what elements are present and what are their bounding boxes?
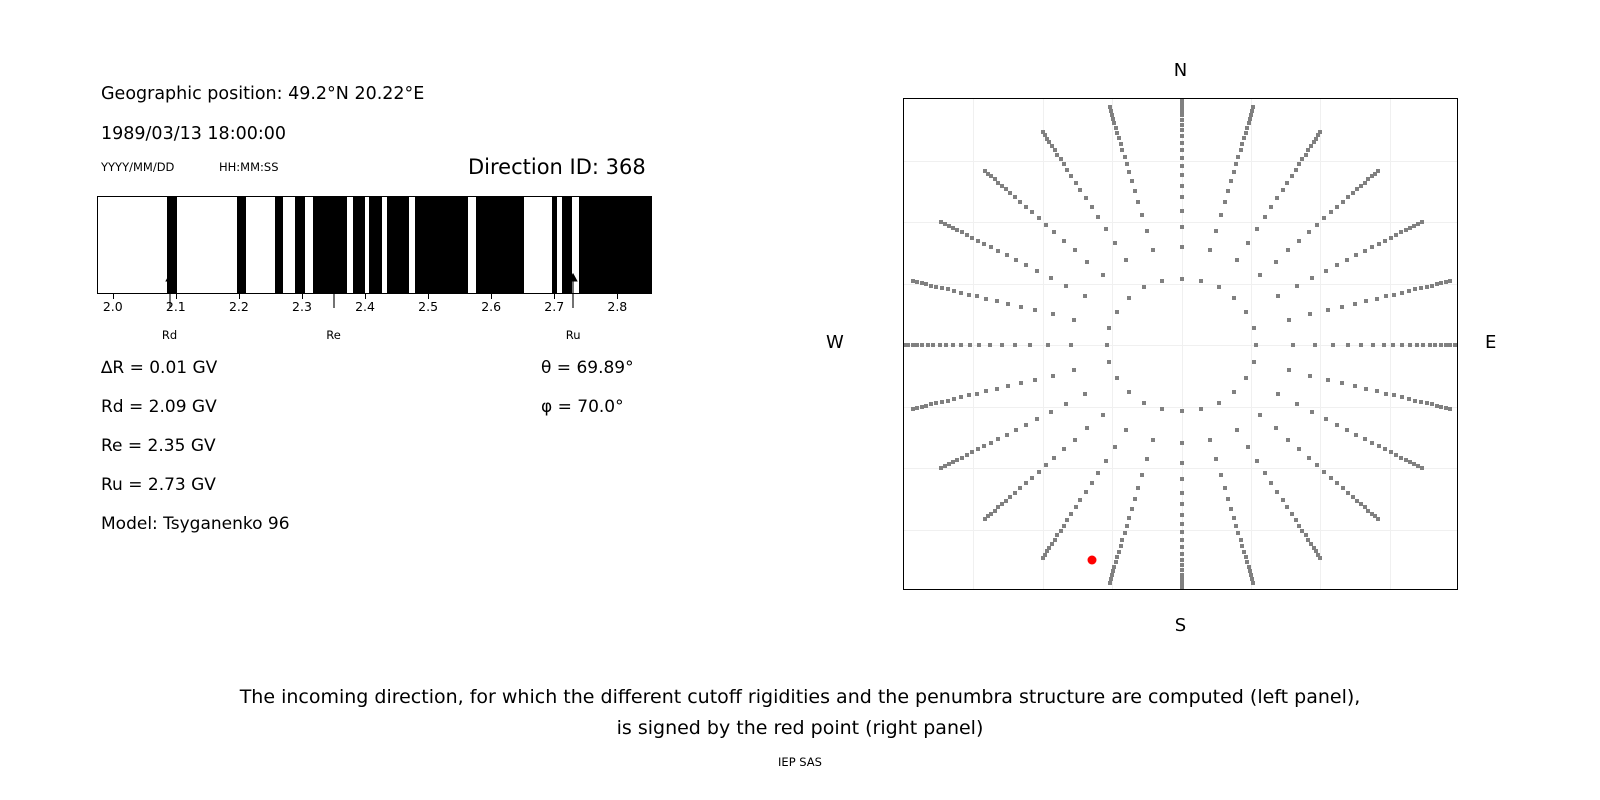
direction-dot: [1430, 284, 1434, 288]
penumbra-band: [552, 197, 557, 293]
direction-dot: [1062, 162, 1066, 166]
direction-dot: [1394, 233, 1398, 237]
direction-dot: [1119, 544, 1123, 548]
caption-line-1: The incoming direction, for which the di…: [0, 682, 1600, 713]
direction-dot: [1180, 277, 1184, 281]
direction-dot: [975, 392, 979, 396]
direction-dot: [1024, 205, 1028, 209]
penumbra-band: [237, 197, 246, 293]
direction-dot: [931, 343, 935, 347]
direction-dot: [1180, 461, 1184, 465]
gridline-horizontal: [904, 468, 1457, 469]
direction-dot: [1335, 263, 1339, 267]
direction-dot: [1059, 529, 1063, 533]
direction-dot: [1375, 297, 1379, 301]
direction-dot: [1370, 441, 1374, 445]
direction-dot: [920, 281, 924, 285]
direction-dot: [1315, 223, 1319, 227]
direction-dot: [1013, 195, 1017, 199]
compass-north-label: N: [903, 60, 1458, 81]
direction-dot: [1069, 343, 1073, 347]
gridline-horizontal: [904, 407, 1457, 408]
cutoff-marker-arrow-icon: [164, 272, 176, 308]
y-axis-tick-mark: [903, 468, 904, 469]
direction-dot: [1310, 276, 1314, 280]
direction-dot: [1382, 343, 1386, 347]
direction-dot: [1251, 105, 1255, 109]
direction-dot: [915, 343, 919, 347]
direction-dot: [1072, 318, 1076, 322]
direction-dot: [1363, 437, 1367, 441]
direction-dot: [1180, 589, 1184, 590]
direction-dot: [1223, 200, 1227, 204]
direction-dot: [1041, 130, 1045, 134]
direction-dot: [1389, 236, 1393, 240]
direction-dot: [1258, 413, 1262, 417]
direction-dot: [1180, 573, 1184, 577]
direction-dot: [1151, 248, 1155, 252]
direction-dot: [1180, 109, 1184, 113]
direction-dot: [1389, 450, 1393, 454]
direction-dot: [1180, 513, 1184, 517]
direction-dot: [1251, 581, 1255, 585]
direction-dot: [1115, 310, 1119, 314]
direction-dot: [1354, 433, 1358, 437]
direction-dot: [929, 402, 933, 406]
direction-dot: [1180, 225, 1184, 229]
direction-dot: [983, 169, 987, 173]
direction-dot: [1371, 343, 1375, 347]
direction-dot: [1217, 285, 1221, 289]
direction-dot: [1180, 184, 1184, 188]
direction-dot: [1006, 302, 1010, 306]
direction-dot: [1073, 438, 1077, 442]
direction-dot: [1322, 470, 1326, 474]
direction-dot: [1245, 560, 1249, 564]
gridline-vertical: [1043, 99, 1044, 589]
direction-dot: [1346, 491, 1350, 495]
direction-dot: [976, 447, 980, 451]
direction-dot: [1287, 368, 1291, 372]
direction-dot: [943, 464, 947, 468]
direction-dot: [1329, 210, 1333, 214]
direction-dot: [1115, 376, 1119, 380]
direction-dot: [1236, 155, 1240, 159]
parameter-line: Rd = 2.09 GV: [101, 397, 217, 417]
direction-dot: [1113, 445, 1117, 449]
direction-dot: [1117, 136, 1121, 140]
direction-dot: [929, 284, 933, 288]
direction-dot: [1160, 407, 1164, 411]
direction-dot: [1004, 187, 1008, 191]
direction-dot: [1180, 148, 1184, 152]
direction-dot: [943, 222, 947, 226]
direction-dot: [1050, 144, 1054, 148]
direction-dot: [1180, 98, 1184, 101]
direction-dot: [983, 517, 987, 521]
direction-dot: [1351, 191, 1355, 195]
direction-dot: [911, 279, 915, 283]
direction-dot: [1112, 121, 1116, 125]
direction-dot: [1113, 241, 1117, 245]
direction-dot: [960, 230, 964, 234]
direction-dot: [1457, 343, 1458, 347]
direction-dot: [1315, 463, 1319, 467]
direction-dot: [1307, 456, 1311, 460]
direction-dot: [1024, 263, 1028, 267]
direction-dot: [1180, 209, 1184, 213]
direction-dot: [924, 404, 928, 408]
direction-dot: [982, 242, 986, 246]
direction-dot: [1051, 374, 1055, 378]
direction-dot: [1033, 378, 1037, 382]
direction-dot: [1314, 137, 1318, 141]
direction-dot: [1239, 148, 1243, 152]
direction-dot: [1005, 253, 1009, 257]
direction-dot: [1297, 239, 1301, 243]
cutoff-marker-label: Re: [326, 328, 341, 342]
direction-dot: [1180, 409, 1184, 413]
direction-dot: [995, 387, 999, 391]
direction-dot: [1104, 227, 1108, 231]
x-axis-tick-mark: [1320, 589, 1321, 590]
direction-dot: [1308, 312, 1312, 316]
direction-dot: [1046, 343, 1050, 347]
direction-dot: [1180, 563, 1184, 567]
penumbra-band: [353, 197, 365, 293]
parameter-line: Re = 2.35 GV: [101, 436, 216, 456]
direction-dot: [1180, 128, 1184, 132]
direction-dot: [1263, 471, 1267, 475]
direction-dot: [1300, 157, 1304, 161]
direction-dot: [1114, 560, 1118, 564]
direction-dot: [926, 343, 930, 347]
direction-dot: [947, 224, 951, 228]
direction-dot: [959, 291, 963, 295]
penumbra-band: [476, 197, 524, 293]
direction-dot: [1252, 326, 1256, 330]
direction-dot: [1000, 184, 1004, 188]
direction-dot: [967, 293, 971, 297]
direction-dot: [1335, 423, 1339, 427]
direction-dot: [1160, 279, 1164, 283]
direction-dot: [1145, 229, 1149, 233]
direction-dot: [1052, 456, 1056, 460]
direction-dot: [970, 450, 974, 454]
direction-dot: [1341, 486, 1345, 490]
direction-dot: [1290, 512, 1294, 516]
direction-dot: [947, 462, 951, 466]
direction-dot: [1363, 249, 1367, 253]
direction-dot: [1290, 174, 1294, 178]
direction-dot: [1275, 196, 1279, 200]
direction-dot: [1013, 343, 1017, 347]
direction-dot: [1105, 343, 1109, 347]
direction-dot: [975, 294, 979, 298]
direction-dot: [1084, 490, 1088, 494]
direction-dot: [1294, 518, 1298, 522]
direction-dot: [1392, 393, 1396, 397]
direction-dot: [1435, 404, 1439, 408]
direction-dot: [1295, 284, 1299, 288]
direction-dot: [1312, 140, 1316, 144]
direction-dot: [1142, 401, 1146, 405]
direction-dot: [915, 280, 919, 284]
direction-dot: [1018, 486, 1022, 490]
axis-tick-label: 2.8: [607, 299, 627, 314]
direction-dot: [1084, 196, 1088, 200]
direction-dot: [1322, 216, 1326, 220]
direction-dot: [1044, 223, 1048, 227]
direction-dot: [1180, 502, 1184, 506]
direction-dot: [1420, 466, 1424, 470]
direction-dot: [1051, 312, 1055, 316]
direction-dot: [1180, 477, 1184, 481]
direction-dot: [1255, 227, 1259, 231]
direction-dot: [1140, 473, 1144, 477]
selected-direction-point[interactable]: [1088, 555, 1097, 564]
parameter-line: φ = 70.0°: [541, 397, 624, 417]
direction-dot: [1376, 517, 1380, 521]
direction-dot: [1335, 481, 1339, 485]
direction-dot: [1004, 499, 1008, 503]
direction-dot: [952, 289, 956, 293]
direction-dot: [1232, 296, 1236, 300]
direction-dot: [1109, 109, 1113, 113]
direction-dot: [1018, 200, 1022, 204]
direction-dot: [1281, 188, 1285, 192]
axis-tick-label: 2.2: [229, 299, 249, 314]
direction-dot: [1276, 392, 1280, 396]
direction-dot: [1014, 428, 1018, 432]
direction-dot: [1180, 558, 1184, 562]
direction-dot: [1078, 498, 1082, 502]
direction-dot: [1242, 550, 1246, 554]
direction-dot: [1083, 392, 1087, 396]
direction-dot: [1052, 230, 1056, 234]
direction-dot: [915, 406, 919, 410]
direction-dot: [1083, 294, 1087, 298]
direction-dot: [1133, 189, 1137, 193]
direction-dot: [1307, 230, 1311, 234]
gridline-horizontal: [904, 161, 1457, 162]
direction-dot: [1151, 438, 1155, 442]
direction-dot: [1180, 530, 1184, 534]
direction-dot: [1244, 131, 1248, 135]
direction-dot: [1297, 447, 1301, 451]
penumbra-band: [295, 197, 305, 293]
direction-dot: [911, 407, 915, 411]
direction-dot: [1005, 433, 1009, 437]
direction-dot: [1145, 457, 1149, 461]
direction-dot: [1180, 141, 1184, 145]
direction-dot: [1255, 459, 1259, 463]
direction-dot: [984, 389, 988, 393]
y-axis-tick-mark: [903, 222, 904, 223]
direction-dot: [1425, 401, 1429, 405]
direction-dot: [1037, 216, 1041, 220]
x-axis-tick-mark: [1043, 589, 1044, 590]
direction-dot: [1392, 293, 1396, 297]
direction-dot: [1297, 524, 1301, 528]
direction-dot: [1096, 215, 1100, 219]
compass-west-label: W: [826, 332, 844, 353]
direction-dot: [1115, 131, 1119, 135]
y-axis-tick-mark: [903, 407, 904, 408]
direction-dot: [1041, 556, 1045, 560]
direction-dot: [1180, 545, 1184, 549]
direction-dot: [1069, 512, 1073, 516]
direction-dot: [1028, 343, 1032, 347]
direction-dot: [1364, 387, 1368, 391]
geographic-position-label: Geographic position: 49.2°N 20.22°E: [101, 84, 424, 104]
direction-dot: [1180, 552, 1184, 556]
direction-dot: [1370, 245, 1374, 249]
direction-dot: [1232, 390, 1236, 394]
direction-dot: [1286, 438, 1290, 442]
direction-dot: [1353, 384, 1357, 388]
direction-dot: [1448, 279, 1452, 283]
direction-dot: [1324, 269, 1328, 273]
direction-dot: [1110, 113, 1114, 117]
direction-dot: [960, 456, 964, 460]
compass-east-label: E: [1485, 332, 1496, 353]
x-axis-tick-mark: [1251, 589, 1252, 590]
direction-dot: [1062, 524, 1066, 528]
direction-dot: [939, 220, 943, 224]
direction-dot: [984, 297, 988, 301]
direction-dot: [1384, 392, 1388, 396]
direction-dot: [1069, 174, 1073, 178]
direction-dot: [1263, 215, 1267, 219]
gridline-vertical: [973, 99, 974, 589]
direction-dot: [1399, 456, 1403, 460]
direction-dot: [952, 397, 956, 401]
direction-dot: [1309, 144, 1313, 148]
direction-dot: [1408, 343, 1412, 347]
cutoff-marker-label: Ru: [566, 328, 581, 342]
direction-dot: [1123, 155, 1127, 159]
direction-dot: [996, 181, 1000, 185]
direction-dot: [996, 249, 1000, 253]
direction-dot: [1074, 181, 1078, 185]
direction-dot: [1064, 284, 1068, 288]
direction-dot: [1124, 428, 1128, 432]
direction-dot: [1274, 426, 1278, 430]
direction-dot: [951, 460, 955, 464]
y-axis-tick-mark: [903, 345, 904, 346]
direction-dot: [1180, 522, 1184, 526]
direction-dot: [1335, 205, 1339, 209]
penumbra-band: [387, 197, 408, 293]
direction-dot: [1444, 343, 1448, 347]
direction-dot: [1419, 286, 1423, 290]
direction-dot: [1008, 495, 1012, 499]
direction-dot: [1375, 389, 1379, 393]
gridline-horizontal: [904, 284, 1457, 285]
direction-dot: [1108, 105, 1112, 109]
direction-dot: [939, 466, 943, 470]
direction-dot: [1235, 258, 1239, 262]
direction-dot: [951, 226, 955, 230]
direction-dot: [1413, 399, 1417, 403]
direction-dot: [1226, 497, 1230, 501]
direction-dot: [1045, 137, 1049, 141]
y-axis-tick-mark: [903, 99, 904, 100]
direction-dot: [1244, 555, 1248, 559]
direction-dot: [988, 343, 992, 347]
parameter-line: Model: Tsyganenko 96: [101, 514, 290, 534]
direction-dot: [955, 228, 959, 232]
direction-dot: [1439, 343, 1443, 347]
direction-dot: [1297, 162, 1301, 166]
direction-dot: [1180, 491, 1184, 495]
direction-dot: [1326, 378, 1330, 382]
direction-dot: [1232, 170, 1236, 174]
direction-dot: [1399, 230, 1403, 234]
gridline-vertical: [1112, 99, 1113, 589]
direction-dot: [1073, 248, 1077, 252]
direction-dot: [1000, 343, 1004, 347]
direction-dot: [1127, 296, 1131, 300]
direction-dot: [1133, 497, 1137, 501]
direction-dot: [1035, 417, 1039, 421]
direction-dot: [1127, 390, 1131, 394]
caption-line-2: is signed by the red point (right panel): [0, 713, 1600, 744]
direction-dot: [1376, 169, 1380, 173]
direction-dot: [1142, 285, 1146, 289]
direction-dot: [1294, 168, 1298, 172]
direction-dot: [1123, 531, 1127, 535]
direction-dot: [1269, 481, 1273, 485]
direction-dot: [1433, 343, 1437, 347]
direction-dot: [1229, 507, 1233, 511]
direction-dot: [1120, 538, 1124, 542]
direction-dot: [1308, 374, 1312, 378]
direction-dot: [1049, 276, 1053, 280]
direction-dot: [1245, 126, 1249, 130]
direction-dot: [1258, 273, 1262, 277]
direction-dot: [1248, 117, 1252, 121]
direction-dot: [1107, 360, 1111, 364]
penumbra-panel: Geographic position: 49.2°N 20.22°E 1989…: [0, 0, 780, 660]
direction-dot: [1180, 105, 1184, 109]
direction-dot: [965, 453, 969, 457]
direction-dot: [1078, 188, 1082, 192]
direction-dot: [1400, 343, 1404, 347]
direction-dot: [970, 236, 974, 240]
direction-dot: [996, 437, 1000, 441]
direction-dot: [977, 343, 981, 347]
direction-dot: [906, 343, 910, 347]
direction-dot: [1037, 470, 1041, 474]
direction-dot: [1383, 239, 1387, 243]
direction-dot: [1407, 289, 1411, 293]
direction-dot: [1111, 117, 1115, 121]
direction-dot: [1120, 148, 1124, 152]
direction-id-label: Direction ID: 368: [468, 155, 646, 179]
direction-dot: [1044, 463, 1048, 467]
direction-dot: [989, 441, 993, 445]
direction-dot: [1030, 210, 1034, 214]
gridline-vertical: [1251, 99, 1252, 589]
direction-dot: [1085, 260, 1089, 264]
direction-map-panel: N S W E −1.00−0.75−0.50−0.250.000.250.50…: [820, 50, 1520, 650]
direction-dot: [1269, 205, 1273, 209]
direction-dot: [1354, 253, 1358, 257]
direction-dot: [1136, 486, 1140, 490]
direction-dot: [1400, 395, 1404, 399]
